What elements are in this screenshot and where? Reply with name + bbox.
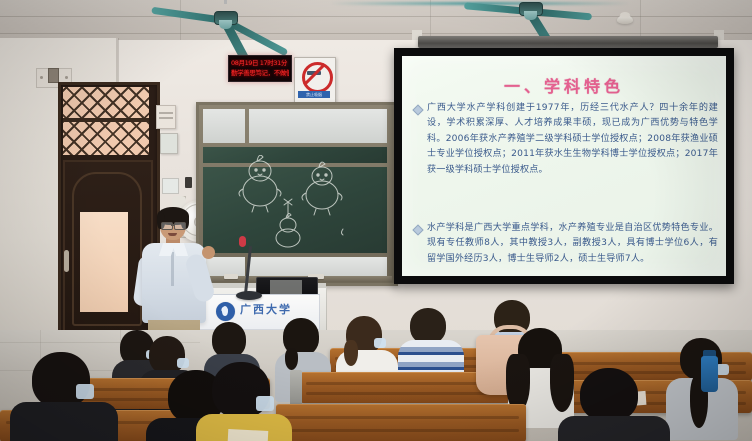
slide-bullet-1-text: 广西大学水产学科创建于1977年，历经三代水产人？四十余年的建设，学术积累深厚、… xyxy=(427,101,718,178)
wall-socket xyxy=(48,68,59,83)
presenter xyxy=(128,210,212,350)
chalk-eraser[interactable] xyxy=(224,274,238,279)
ceiling-fan-left xyxy=(150,0,300,40)
smoke-detector-base xyxy=(620,12,630,18)
diamond-bullet-icon-2 xyxy=(412,224,423,235)
microphone-icon[interactable] xyxy=(239,236,246,247)
wall-switch[interactable] xyxy=(185,177,192,188)
water-bottle[interactable] xyxy=(701,356,718,392)
projection-screen: 一、学科特色 广西大学水产学科创建于1977年，历经三代水产人？四十余年的建设，… xyxy=(402,56,726,276)
student-white-tshirt xyxy=(336,316,394,376)
no-smoking-icon xyxy=(302,62,333,93)
lecture-hall-photo: 08月19日 17时31分 勤学善思笃记，不做低头族 禁止吸烟 xyxy=(0,0,752,441)
screen-roller-housing[interactable] xyxy=(418,36,718,48)
presenter-right-hand xyxy=(202,246,215,259)
presenter-glasses-right-lens xyxy=(174,222,186,230)
notebook-page-2 xyxy=(228,429,269,441)
presenter-shirt-placket xyxy=(171,252,174,286)
chalk-drawing xyxy=(230,155,360,255)
no-smoking-caption-text: 禁止吸烟 xyxy=(298,91,330,98)
slide-bullet-1: 广西大学水产学科创建于1977年，历经三代水产人？四十余年的建设，学术积累深厚、… xyxy=(414,101,718,178)
presenter-glasses-bridge xyxy=(171,224,174,226)
wall-electrical-box-upper xyxy=(156,105,176,129)
presentation-slide: 一、学科特色 广西大学水产学科创建于1977年，历经三代水产人？四十余年的建设，… xyxy=(402,56,726,276)
door-transom-window xyxy=(63,87,149,155)
slide-bullet-2: 水产学科是广西大学重点学科，水产养殖专业是自治区优势特色专业。现有专任教师8人，… xyxy=(414,221,718,267)
student-striped-shirt xyxy=(398,308,460,370)
slide-title: 一、学科特色 xyxy=(402,73,726,97)
podium-banner-text: 广西大学 xyxy=(240,301,306,319)
student-black-shirt-right xyxy=(558,368,664,441)
door-glass-pane xyxy=(80,212,128,312)
led-scrolling-sign: 08月19日 17时31分 勤学善思笃记，不做低头族 xyxy=(228,55,292,82)
student-foreground-left xyxy=(10,352,114,441)
diamond-bullet-icon xyxy=(412,104,423,115)
university-logo-icon xyxy=(216,302,235,321)
microphone-base xyxy=(236,291,262,300)
led-line-2: 勤学善思笃记，不做低头族 xyxy=(231,69,289,78)
led-line-1: 08月19日 17时31分 xyxy=(231,59,289,68)
slide-bullet-2-text: 水产学科是广西大学重点学科，水产养殖专业是自治区优势特色专业。现有专任教师8人，… xyxy=(427,221,718,267)
bench-row-1-center[interactable] xyxy=(276,404,526,441)
wall-panel-plate xyxy=(162,178,179,194)
ceiling-fan-right xyxy=(460,0,600,30)
wall-electrical-box-lower xyxy=(160,133,178,154)
door-handle[interactable] xyxy=(64,250,69,272)
no-smoking-caption: 禁止吸烟 xyxy=(298,91,330,98)
